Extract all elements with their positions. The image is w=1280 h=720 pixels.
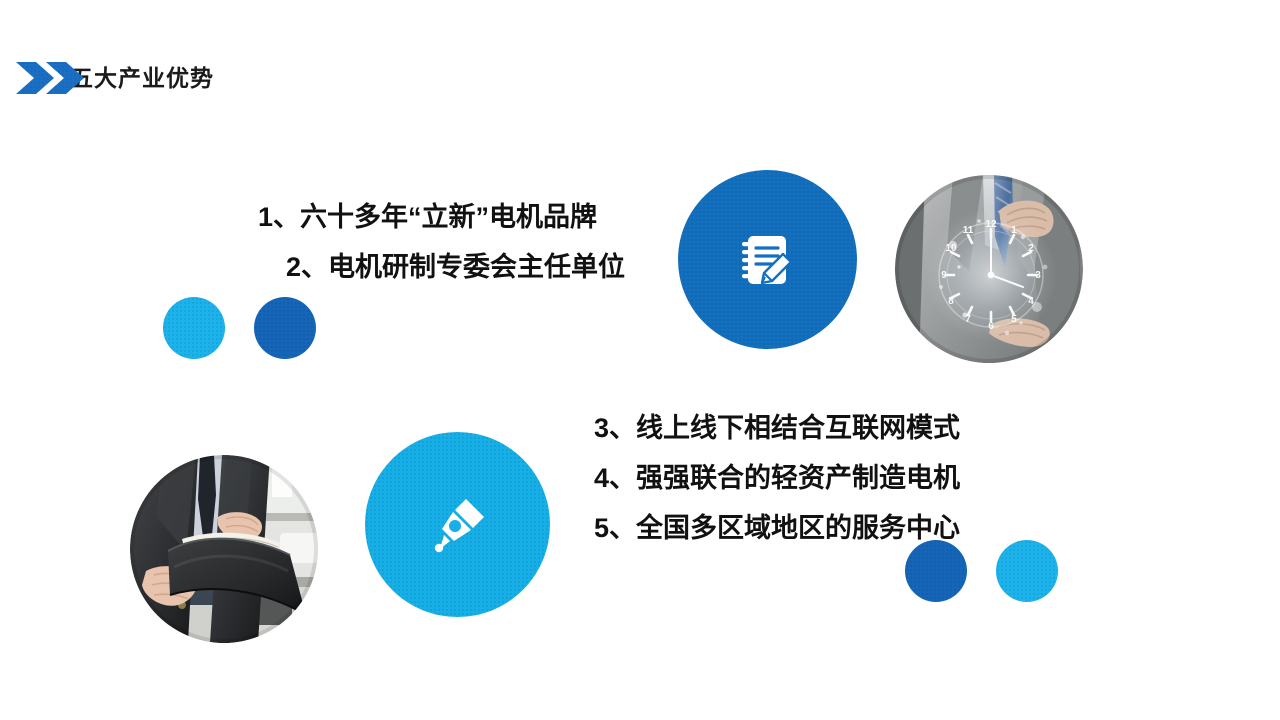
advantage-item-1: 1、六十多年“立新”电机品牌 — [258, 192, 625, 242]
slide-header: 五大产业优势 — [14, 58, 214, 98]
svg-text:5: 5 — [1011, 314, 1017, 325]
page-title: 五大产业优势 — [70, 67, 214, 90]
businessman-reading-folder-photo — [130, 455, 318, 643]
businessman-holding-clock-photo: 12 1 2 3 4 5 6 7 8 9 10 11 — [895, 175, 1083, 363]
svg-text:6: 6 — [988, 321, 994, 332]
accent-dot-cyan-top-left — [163, 297, 225, 359]
advantages-group-bottom: 3、线上线下相结合互联网模式 4、强强联合的轻资产制造电机 5、全国多区域地区的… — [594, 403, 960, 553]
accent-dot-blue-top-left — [254, 297, 316, 359]
advantage-item-3: 3、线上线下相结合互联网模式 — [594, 403, 960, 453]
svg-text:12: 12 — [985, 219, 997, 230]
svg-text:2: 2 — [1028, 243, 1034, 254]
advantage-item-5: 5、全国多区域地区的服务中心 — [594, 503, 960, 553]
notepad-pencil-icon — [736, 228, 800, 292]
slide-canvas: 五大产业优势 1、六十多年“立新”电机品牌 2、电机研制专委会主任单位 — [0, 0, 1280, 720]
svg-text:11: 11 — [963, 225, 974, 236]
pen-icon-circle — [365, 432, 550, 617]
notepad-icon-circle — [678, 170, 857, 349]
svg-text:9: 9 — [941, 270, 947, 281]
pen-nib-icon — [424, 491, 492, 559]
accent-dot-cyan-bottom-right — [996, 540, 1058, 602]
advantage-item-2: 2、电机研制专委会主任单位 — [286, 242, 625, 292]
svg-text:8: 8 — [948, 296, 954, 307]
advantages-group-top: 1、六十多年“立新”电机品牌 2、电机研制专委会主任单位 — [258, 192, 625, 292]
double-chevron-right-icon — [14, 58, 48, 98]
advantage-item-4: 4、强强联合的轻资产制造电机 — [594, 453, 960, 503]
accent-dot-blue-bottom-right — [905, 540, 967, 602]
svg-text:1: 1 — [1011, 225, 1017, 236]
svg-text:3: 3 — [1035, 270, 1041, 281]
